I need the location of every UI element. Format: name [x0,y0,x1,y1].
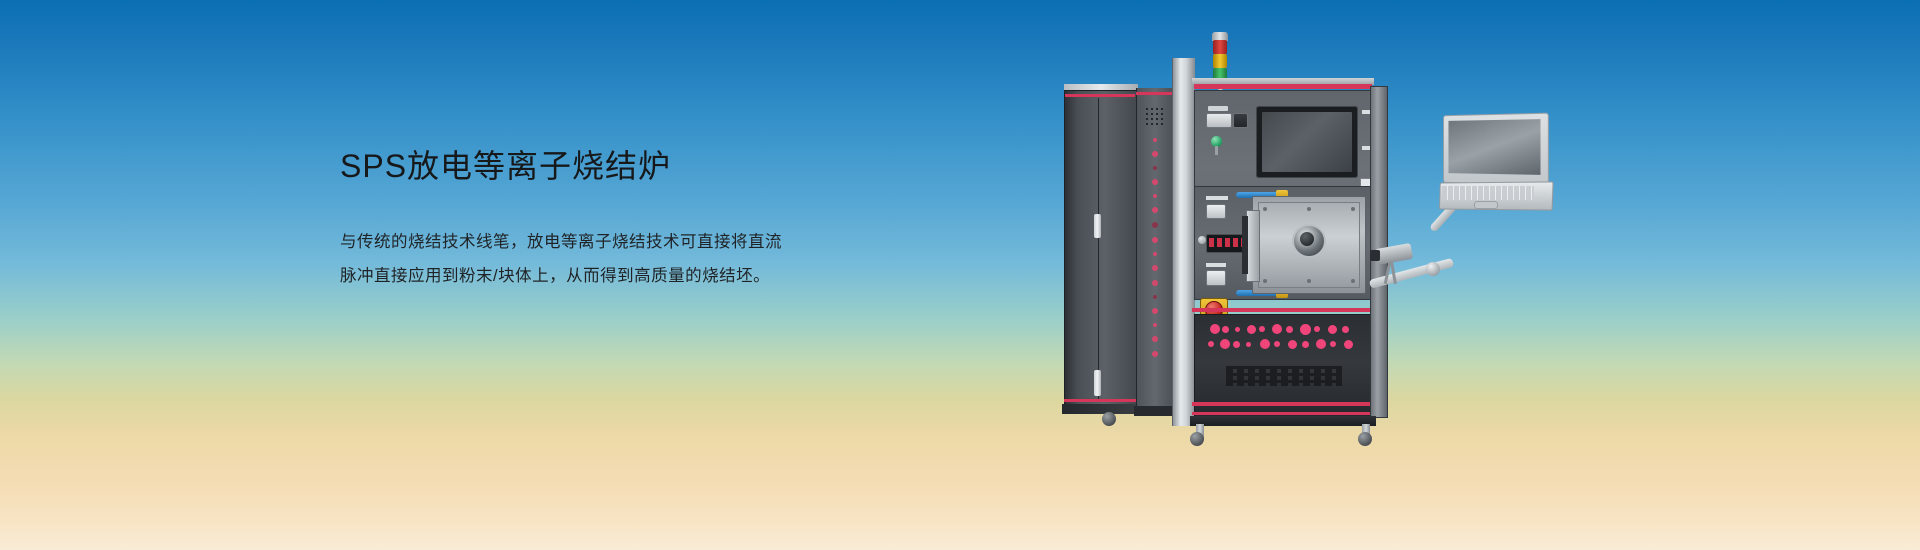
front-vertical-rail [1172,58,1195,426]
viewport-glass [1300,232,1314,246]
signal-tower-yellow-lamp [1213,54,1227,68]
camera-lens-icon [1370,250,1380,261]
power-switch[interactable] [1206,113,1232,128]
indicator-dot [1247,325,1256,334]
indicator-dot [1274,341,1280,347]
chamber-clamp[interactable] [1246,210,1260,282]
indicator-dot [1233,341,1240,348]
laptop-keyboard[interactable] [1442,186,1534,200]
page-title: SPS放电等离子烧结炉 [340,145,900,188]
indicator-dot [1300,324,1311,335]
indicator-dot [1220,339,1230,349]
lower-panel-stripe-base [1192,412,1374,415]
description-line-1: 与传统的烧结技术线笔，放电等离子烧结技术可直接将直流 [340,226,900,260]
side-panel-base [1134,406,1174,416]
indicator-dot [1259,326,1265,332]
rear-cabinet-door-seam [1098,98,1099,400]
lower-panel-stripe-top [1192,308,1374,312]
indicator-dot [1286,326,1293,333]
indicator-led-column [1143,138,1167,368]
lcd-display[interactable] [1262,112,1352,172]
selector-switch[interactable] [1233,113,1248,128]
indicator-dot [1235,327,1240,332]
signal-tower-red-lamp [1213,40,1227,54]
indicator-dot [1210,324,1220,334]
rear-cabinet-base [1062,404,1140,414]
product-image [1040,18,1600,438]
chamber-bolt [1307,207,1311,211]
rear-cabinet-lower-stripe [1064,399,1136,402]
chamber-bolt [1351,207,1355,211]
indicator-dot [1344,340,1353,349]
indicator-dot [1246,342,1251,347]
rear-cabinet-handle-upper [1094,214,1101,238]
knob-stem [1215,146,1218,155]
indicator-dot [1330,341,1336,347]
arm-joint[interactable] [1426,262,1440,276]
indicator-dot [1288,340,1297,349]
vent-perforation-icon [1144,106,1166,126]
rear-cabinet-handle-lower [1094,370,1101,396]
chamber-bolt [1263,207,1267,211]
rear-cabinet [1064,90,1138,410]
ventilation-grille [1226,366,1342,386]
indicator-dot [1316,339,1326,349]
indicator-dot [1222,326,1229,333]
indicator-dot [1208,341,1214,347]
chamber-bolt [1263,279,1267,283]
hero-banner: SPS放电等离子烧结炉 与传统的烧结技术线笔，放电等离子烧结技术可直接将直流 脉… [0,0,1920,550]
mid-toggle-switch[interactable] [1206,204,1226,219]
mid-label-upper [1206,196,1228,200]
caster-front-right [1358,432,1372,446]
mid-toggle-switch-lower[interactable] [1206,270,1226,286]
rotary-knob[interactable] [1198,236,1206,244]
indicator-dot [1272,324,1282,334]
indicator-dot-array [1206,324,1358,354]
chamber-bolt [1307,279,1311,283]
banner-description: 与传统的烧结技术线笔，放电等离子烧结技术可直接将直流 脉冲直接应用到粉末/块体上… [340,226,900,294]
rear-cabinet-accent-stripe [1065,94,1135,97]
chamber-bolt [1351,279,1355,283]
indicator-dot [1260,339,1270,349]
banner-copy: SPS放电等离子烧结炉 与传统的烧结技术线笔，放电等离子烧结技术可直接将直流 脉… [340,145,900,294]
indicator-dot [1328,325,1337,334]
indicator-dot [1302,341,1309,348]
indicator-dot [1342,326,1349,333]
description-line-2: 脉冲直接应用到粉末/块体上，从而得到高质量的烧结坯。 [340,260,900,294]
chamber-clamp-bar [1242,216,1248,274]
lower-panel-stripe-bottom [1192,402,1374,406]
laptop-screen[interactable] [1448,119,1540,175]
control-panel-accent-stripe [1194,84,1372,89]
side-panel-stripe [1136,92,1172,95]
caster-front-left [1190,432,1204,446]
mid-label-lower [1206,263,1226,267]
machine-base [1190,416,1376,426]
control-label-upper [1208,106,1228,111]
laptop-trackpad[interactable] [1474,201,1498,209]
indicator-dot [1314,326,1320,332]
caster-rear-left [1102,412,1116,426]
